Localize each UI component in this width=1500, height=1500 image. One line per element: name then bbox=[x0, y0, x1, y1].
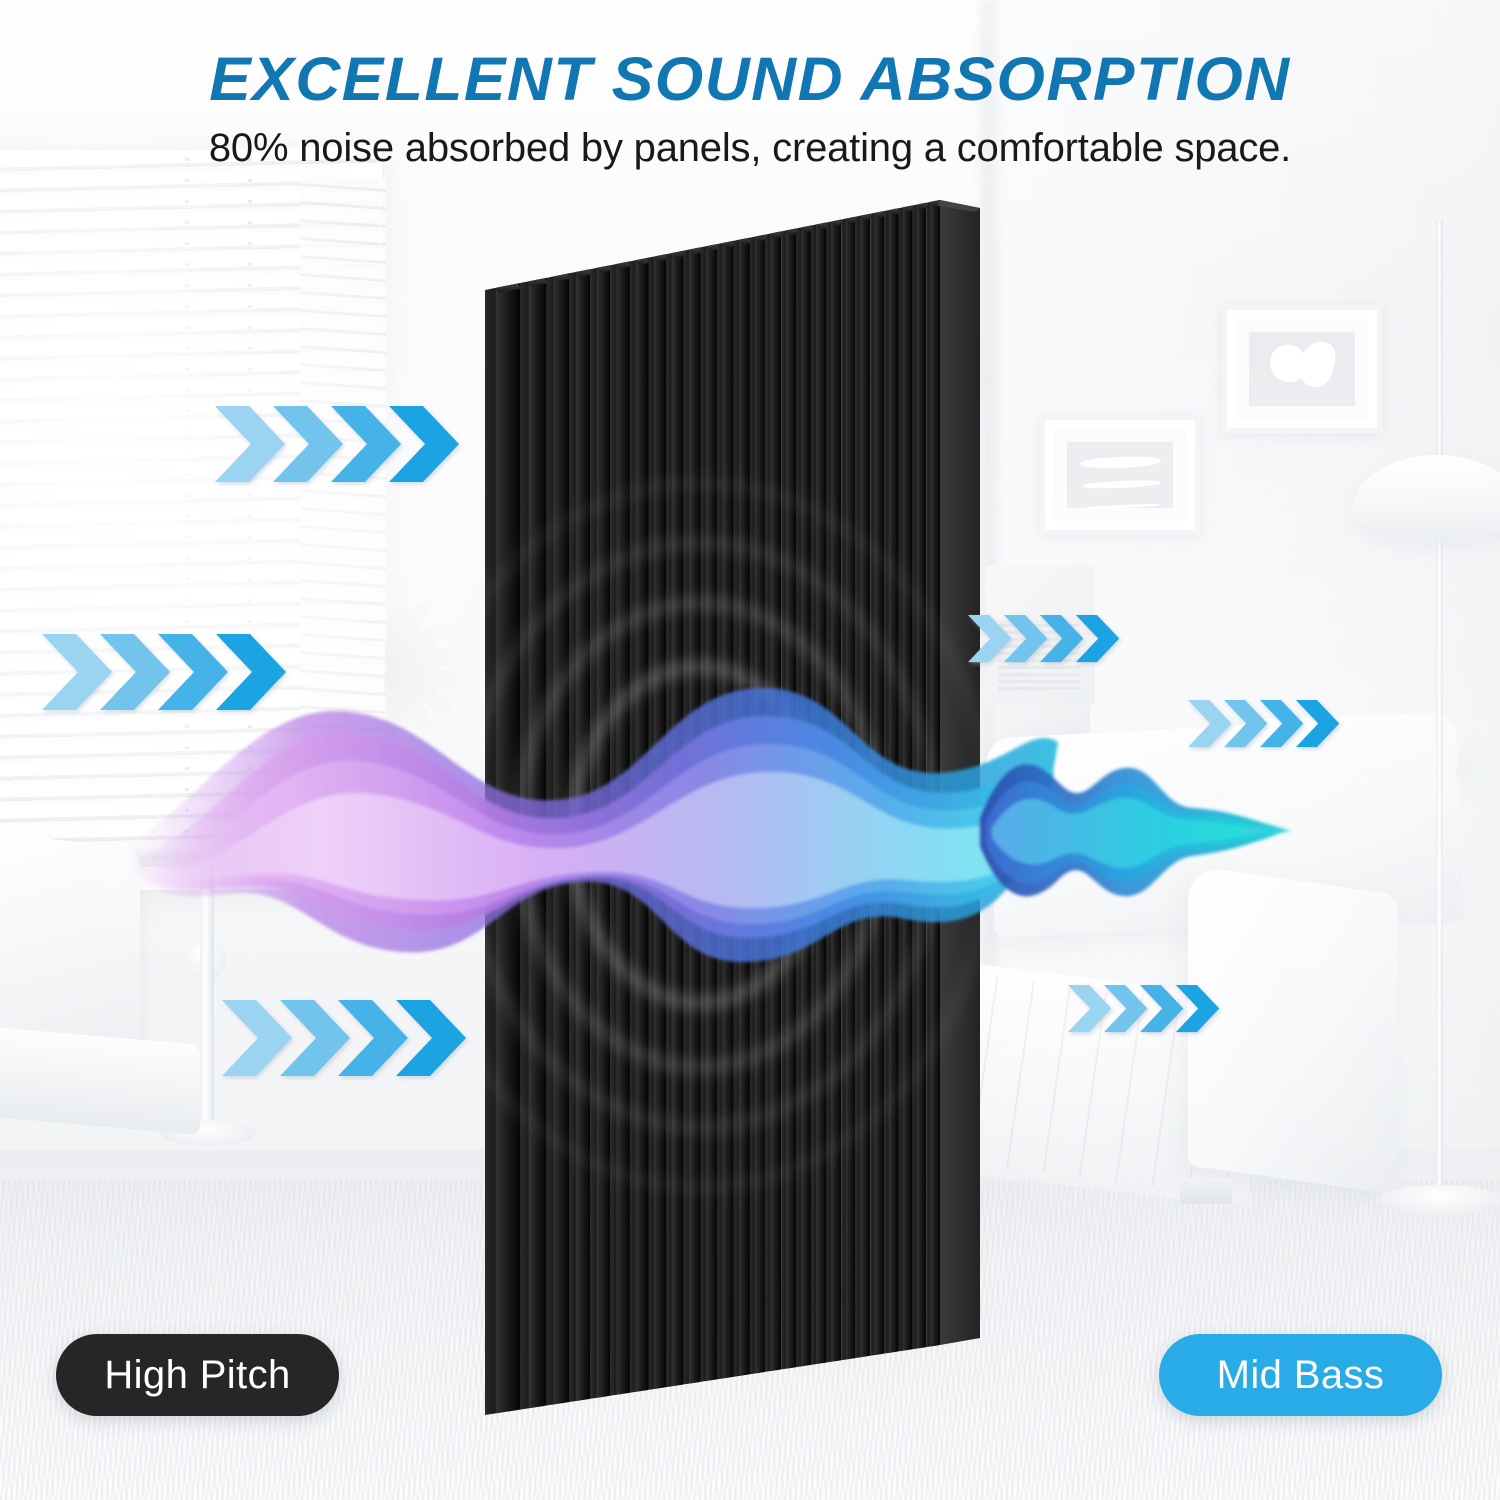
badge-high-pitch[interactable]: High Pitch bbox=[56, 1334, 339, 1416]
chevron-group-right-top bbox=[968, 615, 1119, 662]
badge-mid-bass[interactable]: Mid Bass bbox=[1159, 1334, 1442, 1416]
chevron-group-right-bottom bbox=[1068, 985, 1219, 1032]
chevron-group-left-mid bbox=[42, 634, 286, 710]
product-feature-image: EXCELLENT SOUND ABSORPTION 80% noise abs… bbox=[0, 0, 1500, 1500]
chevron-group-left-bottom bbox=[222, 1000, 466, 1076]
chevron-arrow-layer bbox=[0, 0, 1500, 1500]
badge-high-pitch-label: High Pitch bbox=[104, 1353, 290, 1398]
chevron-group-left-top bbox=[215, 406, 459, 482]
subheadline: 80% noise absorbed by panels, creating a… bbox=[0, 126, 1500, 171]
headline: EXCELLENT SOUND ABSORPTION bbox=[0, 44, 1500, 114]
chevron-group-right-mid bbox=[1188, 700, 1339, 747]
badge-mid-bass-label: Mid Bass bbox=[1217, 1353, 1385, 1398]
